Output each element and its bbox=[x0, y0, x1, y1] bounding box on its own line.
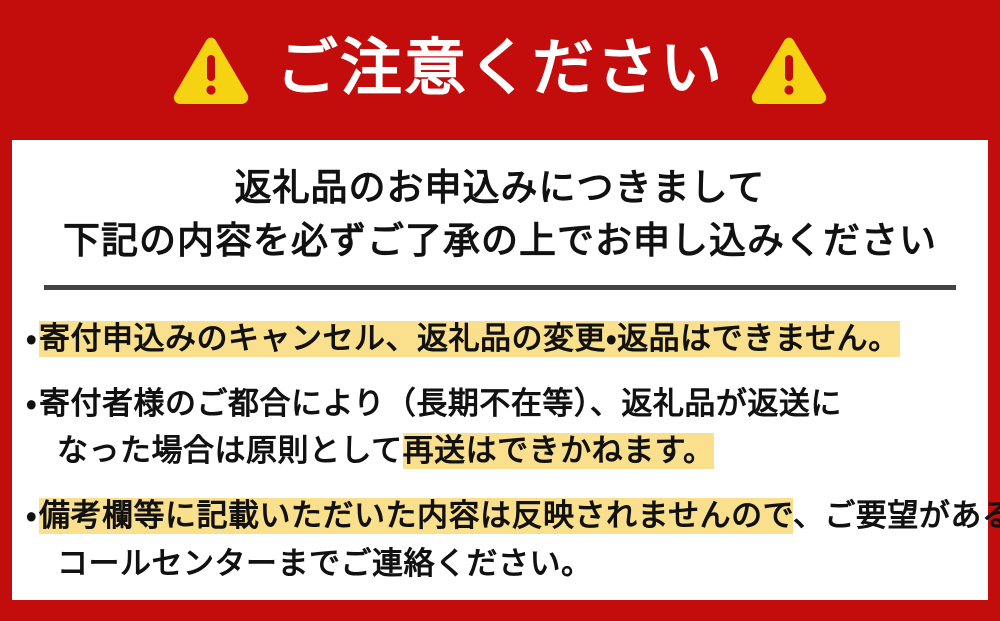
bullet-line: なった場合は原則として再送はできかねます。 bbox=[26, 428, 988, 475]
list-item: ・寄付申込みのキャンセル、返礼品の変更・返品はできません。 bbox=[12, 316, 988, 363]
lead-heading: 返礼品のお申込みにつきまして 下記の内容を必ずご了承の上でお申し込みください bbox=[12, 140, 988, 267]
plain-text: 寄付者様のご都合により（長期不在等）、返礼品が返送に bbox=[39, 386, 842, 422]
page-title: ご注意ください bbox=[276, 37, 724, 103]
notice-panel: 返礼品のお申込みにつきまして 下記の内容を必ずご了承の上でお申し込みください ・… bbox=[12, 140, 988, 600]
list-item: ・寄付者様のご都合により（長期不在等）、返礼品が返送に なった場合は原則として再… bbox=[12, 381, 988, 475]
plain-text: コールセンターまでご連絡ください。 bbox=[57, 546, 593, 582]
warning-triangle-icon bbox=[750, 35, 828, 105]
plain-text: 、ご要望がある際は bbox=[793, 498, 1000, 534]
plain-text: なった場合は原則として bbox=[57, 433, 403, 469]
highlighted-text: 寄付申込みのキャンセル、返礼品の変更・返品はできません。 bbox=[39, 321, 900, 357]
lead-line-2: 下記の内容を必ずご了承の上でお申し込みください bbox=[12, 215, 988, 268]
highlighted-text: 備考欄等に記載いただいた内容は反映されませんので bbox=[39, 498, 793, 534]
banner-header: ご注意ください bbox=[0, 0, 1000, 140]
lead-line-1: 返礼品のお申込みにつきまして bbox=[12, 162, 988, 215]
highlighted-text: 再送はできかねます。 bbox=[403, 433, 715, 469]
bullet-marker: ・ bbox=[26, 386, 37, 422]
bullet-marker: ・ bbox=[26, 498, 37, 534]
notice-banner: ご注意ください 返礼品のお申込みにつきまして 下記の内容を必ずご了承の上でお申し… bbox=[0, 0, 1000, 621]
bullet-line: ・寄付申込みのキャンセル、返礼品の変更・返品はできません。 bbox=[26, 316, 988, 363]
bullet-marker: ・ bbox=[26, 321, 37, 357]
warning-triangle-icon bbox=[172, 35, 250, 105]
bullet-line: コールセンターまでご連絡ください。 bbox=[26, 541, 988, 588]
bullet-line: ・寄付者様のご都合により（長期不在等）、返礼品が返送に bbox=[26, 381, 988, 428]
notice-list: ・寄付申込みのキャンセル、返礼品の変更・返品はできません。 ・寄付者様のご都合に… bbox=[12, 290, 988, 588]
list-item: ・備考欄等に記載いただいた内容は反映されませんので、ご要望がある際は コールセン… bbox=[12, 493, 988, 587]
bullet-line: ・備考欄等に記載いただいた内容は反映されませんので、ご要望がある際は bbox=[26, 493, 988, 540]
